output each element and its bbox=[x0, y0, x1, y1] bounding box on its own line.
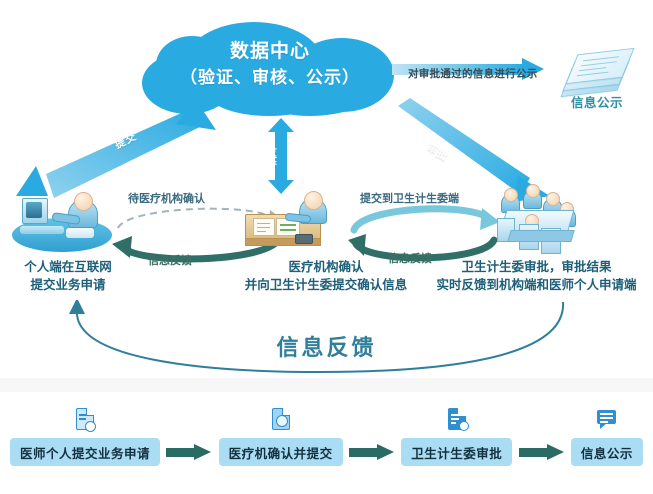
left-cycle-back-label: 信息反馈 bbox=[148, 252, 192, 268]
flow-step-4[interactable]: 信息公示 bbox=[571, 438, 643, 466]
actor-caption-individual-line2: 提交业务申请 bbox=[0, 276, 136, 294]
left-cycle-forward-label: 待医疗机构确认 bbox=[128, 190, 205, 206]
flow-arrow-1 bbox=[166, 444, 212, 460]
person-at-computer-icon bbox=[8, 192, 124, 256]
right-cycle-forward-label: 提交到卫生计生委端 bbox=[360, 190, 459, 206]
publish-arrow-label: 对审批通过的信息进行公示 bbox=[408, 66, 558, 81]
flow-step-2[interactable]: 医疗机确认并提交 bbox=[219, 438, 343, 466]
process-flow-strip: 医师个人提交业务申请 医疗机确认并提交 bbox=[0, 392, 653, 494]
interaction-arrow-label: 交互 bbox=[269, 140, 293, 174]
document-stamp-icon bbox=[446, 408, 468, 432]
flow-arrow-2 bbox=[349, 444, 395, 460]
publish-node-label: 信息公示 bbox=[552, 92, 642, 111]
diagram-page: 提交 审批 交互 数据中心 （验证、审核、公示） bbox=[0, 0, 653, 494]
flow-step-2-label: 医疗机确认并提交 bbox=[229, 443, 333, 462]
actor-caption-institution-line1: 医疗机构确认 bbox=[226, 258, 426, 276]
actor-caption-individual: 个人端在互联网 提交业务申请 bbox=[0, 258, 136, 294]
flow-step-3[interactable]: 卫生计生委审批 bbox=[401, 438, 512, 466]
speech-bubble-icon bbox=[596, 408, 618, 432]
global-feedback-label: 信息反馈 bbox=[0, 330, 653, 362]
actor-caption-institution-line2: 并向卫生计生委提交确认信息 bbox=[226, 276, 426, 294]
cloud-title-line1: 数据中心 bbox=[142, 38, 398, 66]
flow-step-4-label: 信息公示 bbox=[581, 443, 633, 462]
actor-caption-individual-line1: 个人端在互联网 bbox=[0, 258, 136, 276]
committee-meeting-icon bbox=[495, 186, 577, 256]
flow-step-1-label: 医师个人提交业务申请 bbox=[20, 443, 150, 462]
flow-step-1[interactable]: 医师个人提交业务申请 bbox=[10, 438, 160, 466]
section-divider bbox=[0, 378, 653, 392]
actor-caption-institution: 医疗机构确认 并向卫生计生委提交确认信息 bbox=[226, 258, 426, 294]
cloud-title-line2: （验证、审核、公示） bbox=[142, 66, 398, 91]
actor-caption-committee-line2: 实时反馈到机构端和医师个人申请端 bbox=[420, 276, 653, 294]
flow-step-3-label: 卫生计生委审批 bbox=[411, 443, 502, 462]
document-upload-icon bbox=[74, 408, 96, 432]
actor-caption-committee-line1: 卫生计生委审批，审批结果 bbox=[420, 258, 653, 276]
process-flow-row: 医师个人提交业务申请 医疗机确认并提交 bbox=[10, 426, 643, 478]
doctor-at-desk-icon bbox=[243, 192, 345, 254]
data-center-cloud-text: 数据中心 （验证、审核、公示） bbox=[142, 38, 398, 108]
documents-stack-icon bbox=[566, 48, 628, 90]
document-check-icon bbox=[270, 408, 292, 432]
flow-diagram-panel: 提交 审批 交互 数据中心 （验证、审核、公示） bbox=[0, 0, 653, 378]
actor-caption-committee: 卫生计生委审批，审批结果 实时反馈到机构端和医师个人申请端 bbox=[420, 258, 653, 294]
flow-arrow-3 bbox=[519, 444, 565, 460]
